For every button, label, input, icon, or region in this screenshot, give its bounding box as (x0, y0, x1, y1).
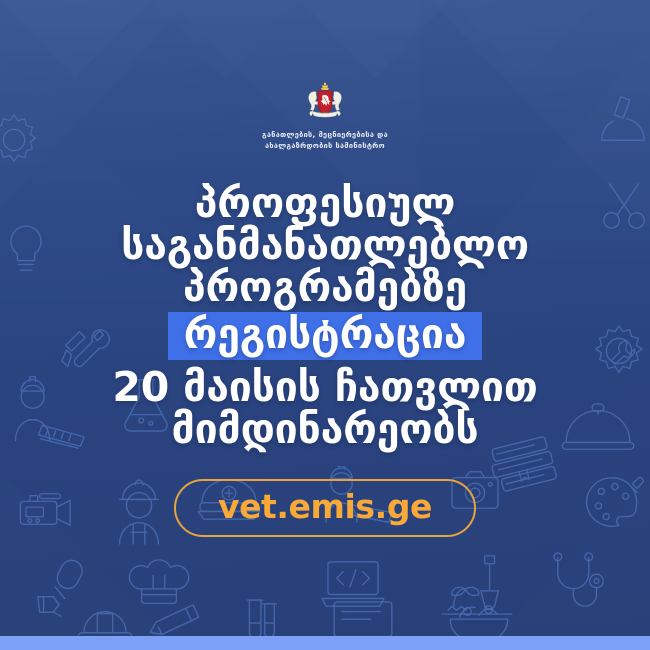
georgia-coat-of-arms-icon (302, 82, 348, 122)
ministry-name-line-1: განათლების, მეცნიერებისა და (262, 129, 388, 140)
headline-highlighted-word: რეგისტრაცია (168, 312, 483, 360)
headline-line-6: მიმდინარეობს (0, 408, 650, 450)
poster-content: განათლების, მეცნიერებისა და ახალგაზრდობი… (0, 0, 650, 650)
headline-line-1: პროფესიულ (0, 182, 650, 224)
ministry-name: განათლების, მეცნიერებისა და ახალგაზრდობი… (262, 129, 388, 152)
headline-line-3: პროგრამებზე (0, 266, 650, 308)
headline-line-2: საგანმანათლებლო (0, 224, 650, 266)
ministry-name-line-2: ახალგაზრდობის სამინისტრო (262, 140, 388, 151)
bottom-accent-bar (0, 636, 650, 650)
headline-primary: პროფესიულ საგანმანათლებლო პროგრამებზე რე… (0, 182, 650, 451)
headline-line-5: 20 მაისის ჩათვლით (0, 366, 650, 408)
cta-wrapper: vet.emis.ge (174, 479, 476, 537)
poster-canvas: განათლების, მეცნიერებისა და ახალგაზრდობი… (0, 0, 650, 650)
ministry-branding: განათლების, მეცნიერებისა და ახალგაზრდობი… (262, 82, 388, 152)
headline-highlight-row: რეგისტრაცია (0, 312, 650, 360)
website-url-button[interactable]: vet.emis.ge (174, 479, 476, 537)
